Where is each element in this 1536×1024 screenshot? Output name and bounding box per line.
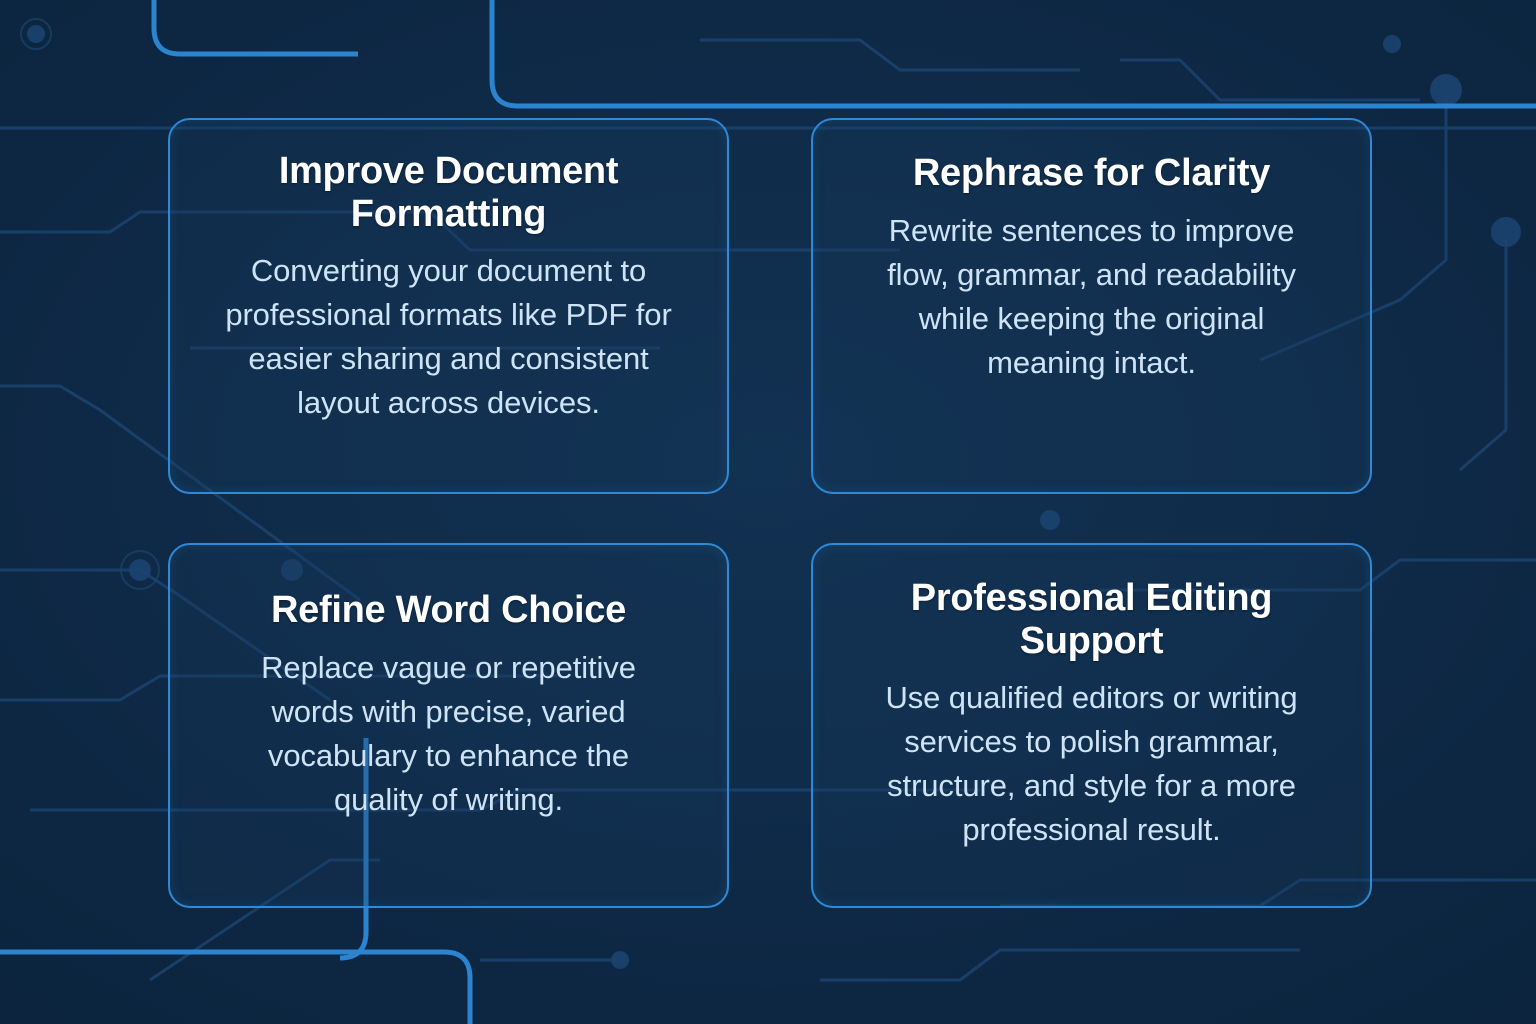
feature-card-refine-word-choice[interactable]: Refine Word Choice Replace vague or repe… (168, 543, 729, 908)
feature-card-professional-editing-support[interactable]: Professional Editing Support Use qualifi… (811, 543, 1372, 908)
card-body: Rewrite sentences to improve flow, gramm… (882, 209, 1302, 385)
card-body: Converting your document to professional… (204, 249, 694, 425)
card-body: Replace vague or repetitive words with p… (224, 646, 674, 822)
card-title: Rephrase for Clarity (913, 152, 1270, 195)
card-body: Use qualified editors or writing service… (839, 676, 1344, 852)
feature-card-rephrase-for-clarity[interactable]: Rephrase for Clarity Rewrite sentences t… (811, 118, 1372, 494)
card-title: Improve Document Formatting (234, 150, 664, 235)
card-title: Refine Word Choice (271, 589, 626, 632)
feature-card-grid: Improve Document Formatting Converting y… (168, 118, 1372, 908)
feature-card-improve-document-formatting[interactable]: Improve Document Formatting Converting y… (168, 118, 729, 494)
card-title: Professional Editing Support (872, 577, 1312, 662)
